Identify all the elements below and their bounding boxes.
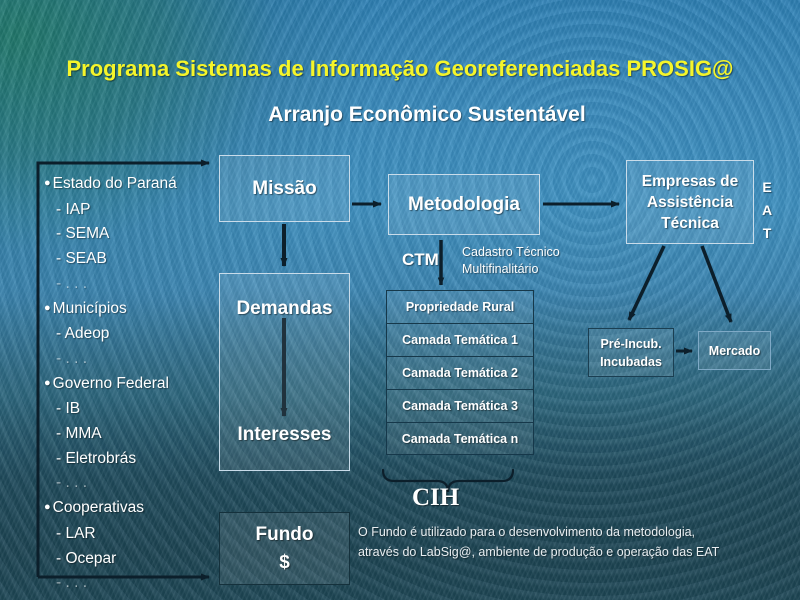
- footnote-line2: através do LabSig@, ambiente de produção…: [358, 542, 788, 562]
- list-item: - IAP: [44, 198, 219, 223]
- ctm-acronym: CTM: [402, 250, 439, 270]
- footnote: O Fundo é utilizado para o desenvolvimen…: [358, 522, 788, 562]
- node-empresas-line2: Assistência: [647, 192, 733, 213]
- node-interesses-label: Interesses: [220, 424, 349, 446]
- eat-letter-a: A: [762, 199, 772, 222]
- list-item: - Adeop: [44, 322, 219, 347]
- list-item: Governo Federal: [44, 372, 219, 398]
- node-pre-incubadas[interactable]: Pré-Incub. Incubadas: [588, 328, 674, 377]
- list-item: - . . .: [44, 272, 219, 297]
- arrow-empresas-to-mercado: [702, 246, 731, 322]
- node-mercado-label: Mercado: [709, 344, 760, 358]
- slide-canvas: Programa Sistemas de Informação Georefer…: [0, 0, 800, 600]
- list-item: - . . .: [44, 347, 219, 372]
- node-missao[interactable]: Missão: [219, 155, 350, 222]
- list-item: - MMA: [44, 422, 219, 447]
- node-fundo-currency: $: [279, 552, 290, 574]
- node-fundo-label: Fundo: [255, 524, 313, 546]
- list-item: - SEAB: [44, 247, 219, 272]
- brace-label-cih: CIH: [412, 484, 459, 512]
- node-empresas-assistencia-tecnica[interactable]: Empresas de Assistência Técnica: [626, 160, 754, 244]
- ctm-expansion-line2: Multifinalitário: [462, 261, 560, 278]
- node-mercado[interactable]: Mercado: [698, 331, 771, 370]
- node-demandas-label: Demandas: [236, 298, 332, 320]
- ctm-layer[interactable]: Propriedade Rural: [386, 290, 534, 323]
- list-item: - . . .: [44, 571, 219, 596]
- list-item: - Eletrobrás: [44, 447, 219, 472]
- ctm-expansion-line1: Cadastro Técnico: [462, 244, 560, 261]
- page-title: Programa Sistemas de Informação Georefer…: [0, 56, 800, 82]
- list-item: - Ocepar: [44, 547, 219, 572]
- ctm-layer[interactable]: Camada Temática 1: [386, 323, 534, 356]
- eat-letter-t: T: [762, 222, 772, 245]
- node-demandas-interesses[interactable]: Demandas Interesses: [219, 273, 350, 471]
- arrow-empresas-to-preincub: [629, 246, 664, 320]
- ctm-layer[interactable]: Camada Temática n: [386, 422, 534, 455]
- node-empresas-line3: Técnica: [661, 213, 719, 234]
- list-item: - SEMA: [44, 222, 219, 247]
- eat-letter-e: E: [762, 176, 772, 199]
- list-item: Municípios: [44, 297, 219, 323]
- eat-acronym: E A T: [762, 176, 772, 245]
- list-item: - IB: [44, 397, 219, 422]
- list-item: - . . .: [44, 471, 219, 496]
- node-metodologia[interactable]: Metodologia: [388, 174, 540, 235]
- node-missao-label: Missão: [252, 178, 316, 200]
- list-item: - LAR: [44, 522, 219, 547]
- ctm-layer-stack: Propriedade Rural Camada Temática 1 Cama…: [386, 290, 534, 455]
- ctm-layer[interactable]: Camada Temática 3: [386, 389, 534, 422]
- node-fundo[interactable]: Fundo $: [219, 512, 350, 585]
- ctm-layer[interactable]: Camada Temática 2: [386, 356, 534, 389]
- list-item: Cooperativas: [44, 496, 219, 522]
- node-preincub-line1: Pré-Incub.: [600, 335, 661, 353]
- footnote-line1: O Fundo é utilizado para o desenvolvimen…: [358, 522, 788, 542]
- ctm-expansion: Cadastro Técnico Multifinalitário: [462, 244, 560, 278]
- node-empresas-line1: Empresas de: [642, 171, 739, 192]
- node-preincub-line2: Incubadas: [600, 353, 662, 371]
- page-subtitle: Arranjo Econômico Sustentável: [0, 103, 800, 127]
- stakeholder-list: Estado do Paraná - IAP - SEMA - SEAB - .…: [44, 172, 219, 596]
- list-item: Estado do Paraná: [44, 172, 219, 198]
- node-metodologia-label: Metodologia: [408, 194, 520, 216]
